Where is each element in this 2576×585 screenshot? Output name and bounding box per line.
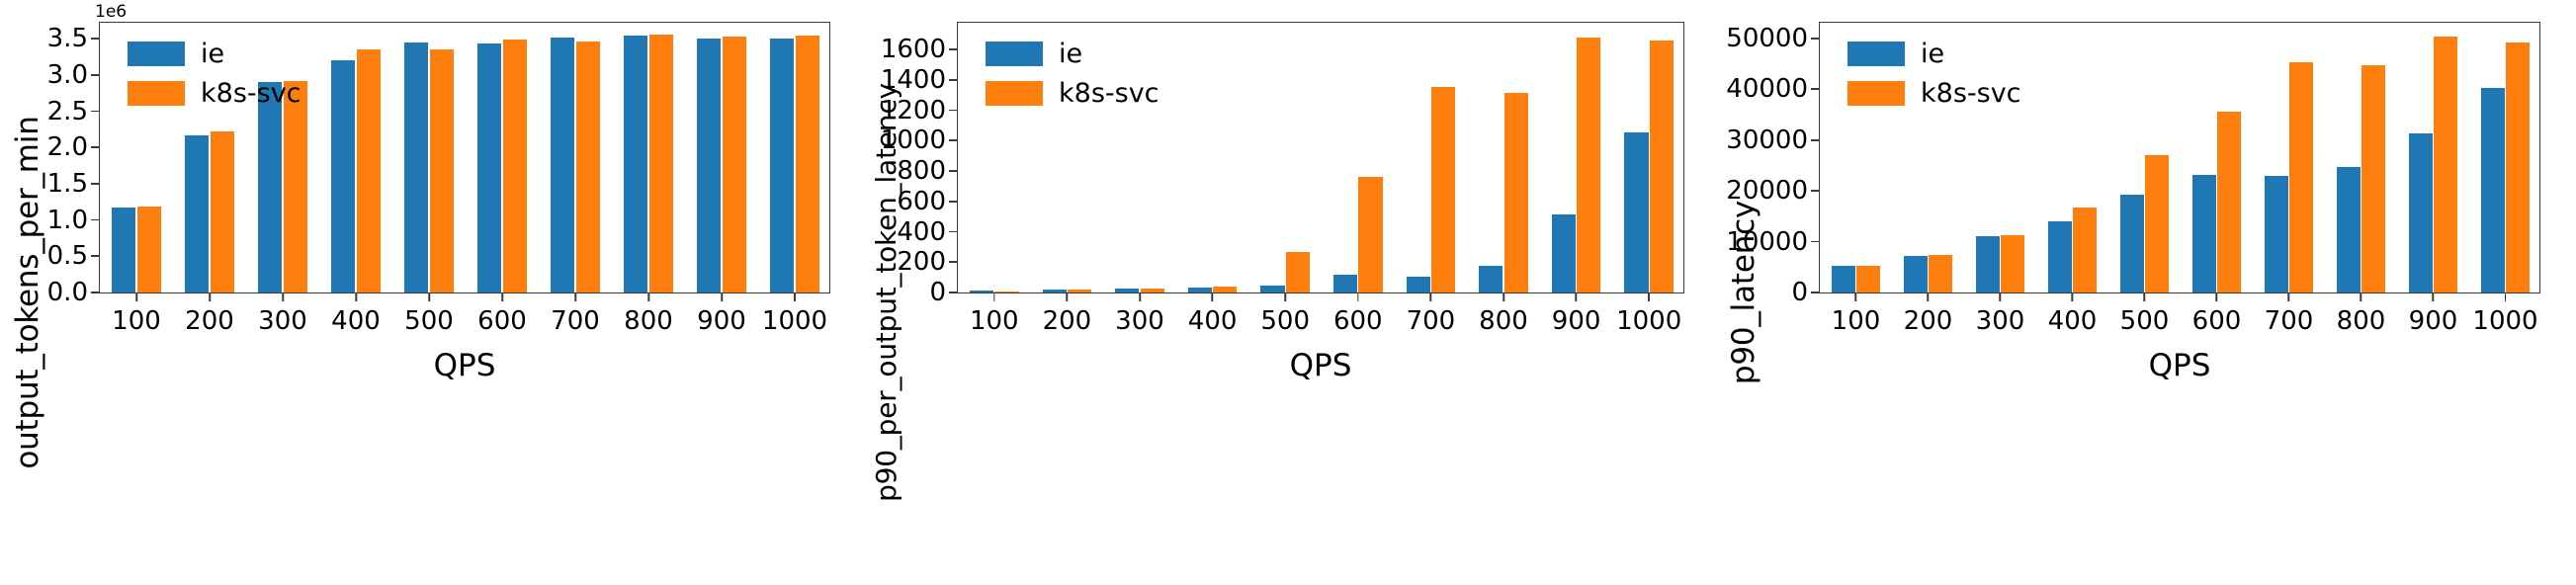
bar-k8s-svc-200 (211, 131, 234, 292)
bar-k8s-svc-500 (430, 49, 454, 292)
y-tick-label: 1000 (881, 127, 958, 153)
y-tick-label: 40000 (1726, 76, 1820, 102)
x-tick-label: 500 (2120, 306, 2170, 336)
x-axis-tick: 200 (1904, 292, 1953, 336)
bar-k8s-svc-1000 (796, 36, 819, 292)
bar-k8s-svc-900 (1577, 38, 1600, 292)
bar-ie-300 (1976, 236, 2000, 292)
x-axis-tick: 700 (551, 292, 600, 336)
bar-k8s-svc-1000 (1650, 41, 1674, 292)
x-tick-mark (2072, 292, 2074, 301)
x-axis-tick: 500 (1260, 292, 1310, 336)
y-tick-mark (1811, 139, 1820, 141)
x-tick-mark (135, 292, 137, 301)
x-tick-label: 400 (1188, 306, 1238, 336)
x-axis-tick: 900 (697, 292, 746, 336)
y-tick-mark (91, 183, 100, 185)
bar-k8s-svc-400 (2073, 208, 2097, 292)
x-tick-mark (1648, 292, 1650, 301)
bar-k8s-svc-700 (2289, 62, 2313, 292)
x-axis-tick: 100 (112, 292, 161, 336)
y-tick-mark (91, 74, 100, 76)
bar-k8s-svc-700 (1431, 87, 1455, 292)
y-tick-mark (949, 201, 958, 203)
bar-ie-100 (112, 208, 135, 292)
legend-panel1[interactable]: iek8s-svc (128, 41, 301, 107)
x-tick-label: 400 (2048, 306, 2098, 336)
bar-k8s-svc-500 (2145, 155, 2169, 292)
panel-output-tokens-per-min: output_tokens_per_min 1e6 iek8s-svc 0.00… (0, 0, 858, 585)
legend-label: ie (1921, 41, 1944, 67)
figure-multi-panel-bar-charts: output_tokens_per_min 1e6 iek8s-svc 0.00… (0, 0, 2576, 585)
legend-entry-k8s-svc[interactable]: k8s-svc (1847, 80, 2021, 107)
bar-ie-100 (1832, 266, 1855, 292)
bar-ie-200 (185, 135, 209, 292)
y-tick-label: 1600 (881, 37, 958, 62)
x-axis-tick: 100 (1832, 292, 1881, 336)
x-tick-mark (2361, 292, 2362, 301)
x-axis-tick: 1000 (2472, 292, 2537, 336)
y-tick-mark (1811, 190, 1820, 192)
x-axis-tick: 800 (624, 292, 673, 336)
y-tick-mark (949, 79, 958, 81)
plot-area-panel1: iek8s-svc 0.00.51.01.52.02.53.03.5100200… (99, 22, 830, 293)
bar-ie-700 (551, 38, 574, 292)
x-tick-mark (1928, 292, 1930, 301)
legend-swatch-icon (1847, 42, 1905, 66)
x-tick-mark (574, 292, 576, 301)
x-axis-tick: 1000 (762, 292, 827, 336)
x-tick-label: 300 (258, 306, 307, 336)
y-tick-mark (949, 48, 958, 50)
x-tick-mark (1855, 292, 1857, 301)
bar-k8s-svc-600 (1358, 177, 1382, 292)
x-tick-mark (282, 292, 284, 301)
x-tick-label: 800 (2337, 306, 2386, 336)
legend-entry-k8s-svc[interactable]: k8s-svc (128, 80, 301, 107)
legend-swatch-icon (128, 81, 185, 106)
x-axis-tick: 200 (1043, 292, 1092, 336)
y-tick-mark (91, 219, 100, 221)
x-tick-label: 1000 (2472, 306, 2537, 336)
legend-panel2[interactable]: iek8s-svc (986, 41, 1159, 107)
x-tick-label: 900 (2409, 306, 2458, 336)
y-tick-mark (1811, 38, 1820, 40)
y-tick-label: 50000 (1726, 26, 1820, 51)
bar-k8s-svc-600 (2217, 112, 2241, 292)
x-tick-mark (2216, 292, 2218, 301)
bar-k8s-svc-300 (2001, 235, 2024, 292)
x-tick-label: 700 (2265, 306, 2314, 336)
x-axis-tick: 400 (1188, 292, 1238, 336)
y-tick-mark (1811, 292, 1820, 293)
bar-ie-700 (2265, 176, 2288, 292)
y-tick-label: 10000 (1726, 229, 1820, 255)
bar-ie-500 (2120, 195, 2144, 292)
y-tick-mark (1811, 241, 1820, 243)
x-tick-mark (1357, 292, 1359, 301)
x-axis-tick: 500 (404, 292, 454, 336)
x-tick-label: 900 (1552, 306, 1601, 336)
legend-swatch-icon (128, 42, 185, 66)
legend-entry-ie[interactable]: ie (128, 41, 301, 67)
x-tick-mark (355, 292, 357, 301)
panel-p90-latency: p90_latency iek8s-svc 010000200003000040… (1716, 0, 2574, 585)
plot-area-panel2: iek8s-svc 020040060080010001200140016001… (957, 22, 1684, 293)
bar-k8s-svc-800 (2361, 65, 2385, 292)
legend-swatch-icon (1847, 81, 1905, 106)
legend-swatch-icon (986, 42, 1043, 66)
x-tick-label: 500 (404, 306, 454, 336)
x-tick-mark (2433, 292, 2435, 301)
bar-ie-600 (477, 43, 501, 292)
x-axis-tick: 300 (1115, 292, 1164, 336)
x-axis-tick: 400 (331, 292, 381, 336)
x-tick-mark (1066, 292, 1068, 301)
y-tick-label: 1200 (881, 98, 958, 124)
x-tick-label: 100 (112, 306, 161, 336)
x-tick-label: 200 (1043, 306, 1092, 336)
y-tick-label: 1400 (881, 67, 958, 93)
x-tick-label: 900 (697, 306, 746, 336)
x-tick-mark (1284, 292, 1286, 301)
bar-ie-500 (1260, 286, 1284, 292)
x-tick-label: 1000 (762, 306, 827, 336)
bar-ie-800 (1479, 266, 1503, 292)
x-tick-mark (1429, 292, 1431, 301)
bar-ie-900 (1552, 214, 1576, 292)
y-tick-mark (949, 292, 958, 293)
bar-ie-600 (1333, 275, 1357, 292)
bar-k8s-svc-400 (357, 49, 381, 292)
x-tick-mark (993, 292, 995, 301)
bar-k8s-svc-600 (503, 40, 527, 292)
y-tick-mark (91, 292, 100, 293)
legend-label: k8s-svc (201, 80, 301, 107)
bar-ie-1000 (1624, 132, 1648, 292)
bar-k8s-svc-800 (649, 35, 673, 292)
panel-p90-per-output-token-latency: p90_per_output_token_latency iek8s-svc 0… (858, 0, 1716, 585)
x-tick-mark (2505, 292, 2507, 301)
x-tick-mark (721, 292, 723, 301)
y-tick-label: 30000 (1726, 127, 1820, 153)
x-axis-tick: 900 (1552, 292, 1601, 336)
legend-label: k8s-svc (1921, 80, 2021, 107)
x-tick-label: 300 (1976, 306, 2025, 336)
x-tick-label: 1000 (1616, 306, 1681, 336)
y-tick-mark (949, 110, 958, 112)
x-tick-mark (647, 292, 649, 301)
x-axis-tick: 600 (477, 292, 527, 336)
legend-label: ie (1059, 41, 1082, 67)
x-tick-label: 200 (1904, 306, 1953, 336)
x-axis-tick: 100 (970, 292, 1019, 336)
y-tick-label: 20000 (1726, 178, 1820, 204)
x-tick-label: 600 (1333, 306, 1383, 336)
y-tick-mark (91, 111, 100, 113)
y-tick-mark (1811, 88, 1820, 90)
x-tick-label: 600 (477, 306, 527, 336)
y-tick-mark (91, 146, 100, 148)
x-axis-tick: 1000 (1616, 292, 1681, 336)
x-tick-mark (1576, 292, 1578, 301)
legend-label: k8s-svc (1059, 80, 1159, 107)
x-axis-tick: 300 (258, 292, 307, 336)
x-axis-tick: 600 (1333, 292, 1383, 336)
x-axis-tick: 300 (1976, 292, 2025, 336)
x-tick-label: 100 (1832, 306, 1881, 336)
bar-k8s-svc-200 (1929, 255, 1952, 292)
x-axis-tick: 800 (1479, 292, 1528, 336)
bar-k8s-svc-800 (1504, 93, 1528, 292)
x-tick-label: 500 (1260, 306, 1310, 336)
x-axis-label-panel1: QPS (99, 348, 830, 383)
y-tick-mark (949, 231, 958, 233)
x-tick-label: 300 (1115, 306, 1164, 336)
bar-ie-400 (331, 60, 355, 292)
x-tick-label: 400 (331, 306, 381, 336)
x-axis-tick: 700 (2265, 292, 2314, 336)
x-axis-tick: 200 (185, 292, 234, 336)
x-axis-label-panel3: QPS (1819, 348, 2540, 383)
bar-ie-200 (1904, 256, 1928, 292)
legend-entry-ie[interactable]: ie (1847, 41, 2021, 67)
bar-ie-300 (258, 82, 282, 292)
bar-ie-1000 (2481, 88, 2505, 292)
bar-ie-500 (404, 42, 428, 292)
y-tick-mark (949, 139, 958, 141)
legend-entry-ie[interactable]: ie (986, 41, 1159, 67)
x-tick-label: 700 (1407, 306, 1456, 336)
bar-ie-1000 (770, 39, 794, 292)
bar-k8s-svc-1000 (2506, 42, 2530, 292)
x-tick-mark (1212, 292, 1214, 301)
bar-k8s-svc-900 (2434, 37, 2457, 292)
bar-k8s-svc-900 (723, 37, 746, 292)
bar-ie-400 (2048, 221, 2072, 292)
bar-ie-900 (2409, 133, 2433, 292)
x-tick-label: 600 (2192, 306, 2242, 336)
bar-ie-800 (624, 36, 647, 292)
bar-k8s-svc-500 (1286, 252, 1310, 292)
plot-area-panel3: iek8s-svc 010000200003000040000500001002… (1819, 22, 2540, 293)
bar-k8s-svc-100 (1856, 266, 1880, 292)
bar-k8s-svc-300 (284, 81, 307, 292)
x-axis-tick: 500 (2120, 292, 2170, 336)
bar-ie-800 (2337, 167, 2361, 292)
x-axis-label-panel2: QPS (957, 348, 1684, 383)
x-axis-tick: 800 (2337, 292, 2386, 336)
x-tick-mark (209, 292, 211, 301)
y-tick-mark (91, 38, 100, 40)
legend-entry-k8s-svc[interactable]: k8s-svc (986, 80, 1159, 107)
y-axis-offset-text-panel1: 1e6 (95, 2, 127, 22)
x-tick-mark (1503, 292, 1504, 301)
legend-swatch-icon (986, 81, 1043, 106)
legend-label: ie (201, 41, 224, 67)
x-tick-mark (1139, 292, 1141, 301)
x-tick-mark (2144, 292, 2146, 301)
y-tick-mark (949, 261, 958, 263)
x-tick-mark (428, 292, 430, 301)
x-axis-tick: 400 (2048, 292, 2098, 336)
x-tick-label: 700 (551, 306, 600, 336)
bar-ie-900 (697, 39, 721, 292)
bar-ie-600 (2192, 175, 2216, 292)
x-axis-tick: 600 (2192, 292, 2242, 336)
x-tick-label: 800 (624, 306, 673, 336)
bar-ie-700 (1407, 277, 1430, 292)
legend-panel3[interactable]: iek8s-svc (1847, 41, 2021, 107)
x-axis-tick: 900 (2409, 292, 2458, 336)
y-tick-mark (91, 255, 100, 257)
x-tick-label: 200 (185, 306, 234, 336)
x-tick-mark (2288, 292, 2290, 301)
x-tick-label: 800 (1479, 306, 1528, 336)
x-tick-mark (2000, 292, 2002, 301)
bar-k8s-svc-700 (576, 42, 600, 292)
bar-k8s-svc-100 (137, 207, 161, 292)
x-tick-mark (501, 292, 503, 301)
x-tick-label: 100 (970, 306, 1019, 336)
x-tick-mark (794, 292, 796, 301)
x-axis-tick: 700 (1407, 292, 1456, 336)
y-tick-mark (949, 170, 958, 172)
